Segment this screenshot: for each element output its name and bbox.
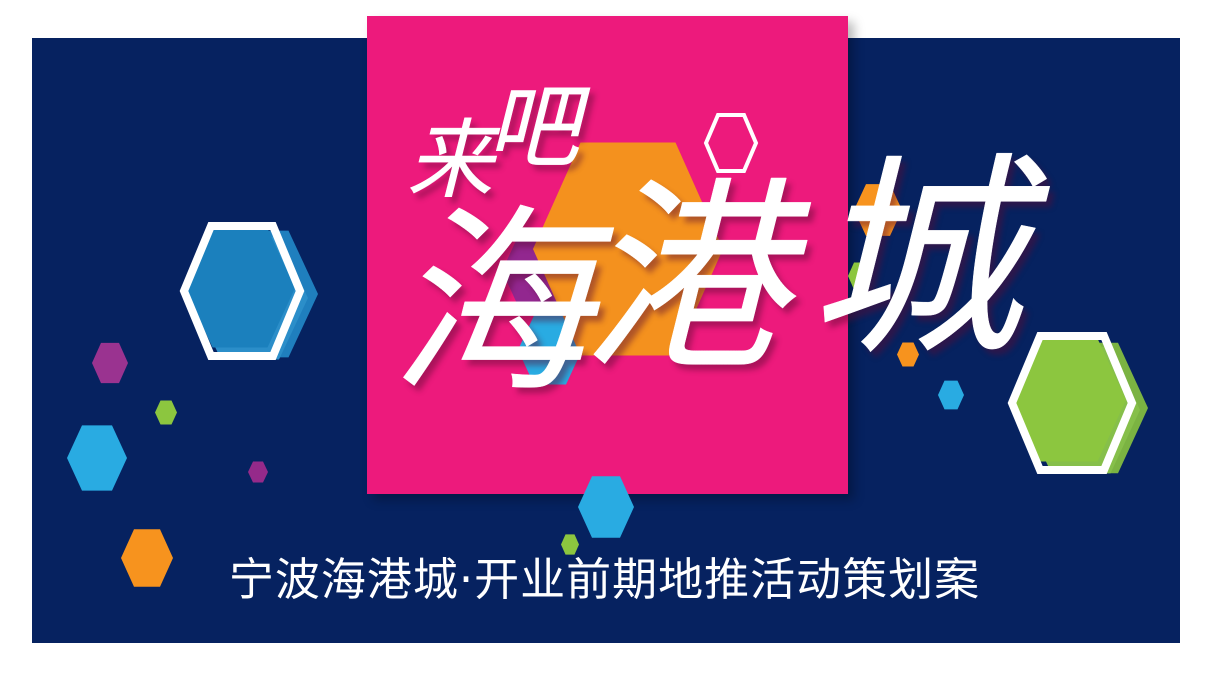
- hexagon-outline-green-large-icon: [1008, 332, 1136, 474]
- hexagon-outline-blue-large-icon: [180, 222, 304, 360]
- title-slide: 来 吧 海 港 城 宁波海港城·开业前期地推活动策划案: [0, 0, 1209, 680]
- hexagon-outline-white-small-icon: [703, 112, 759, 174]
- slide-subtitle: 宁波海港城·开业前期地推活动策划案: [0, 543, 1209, 608]
